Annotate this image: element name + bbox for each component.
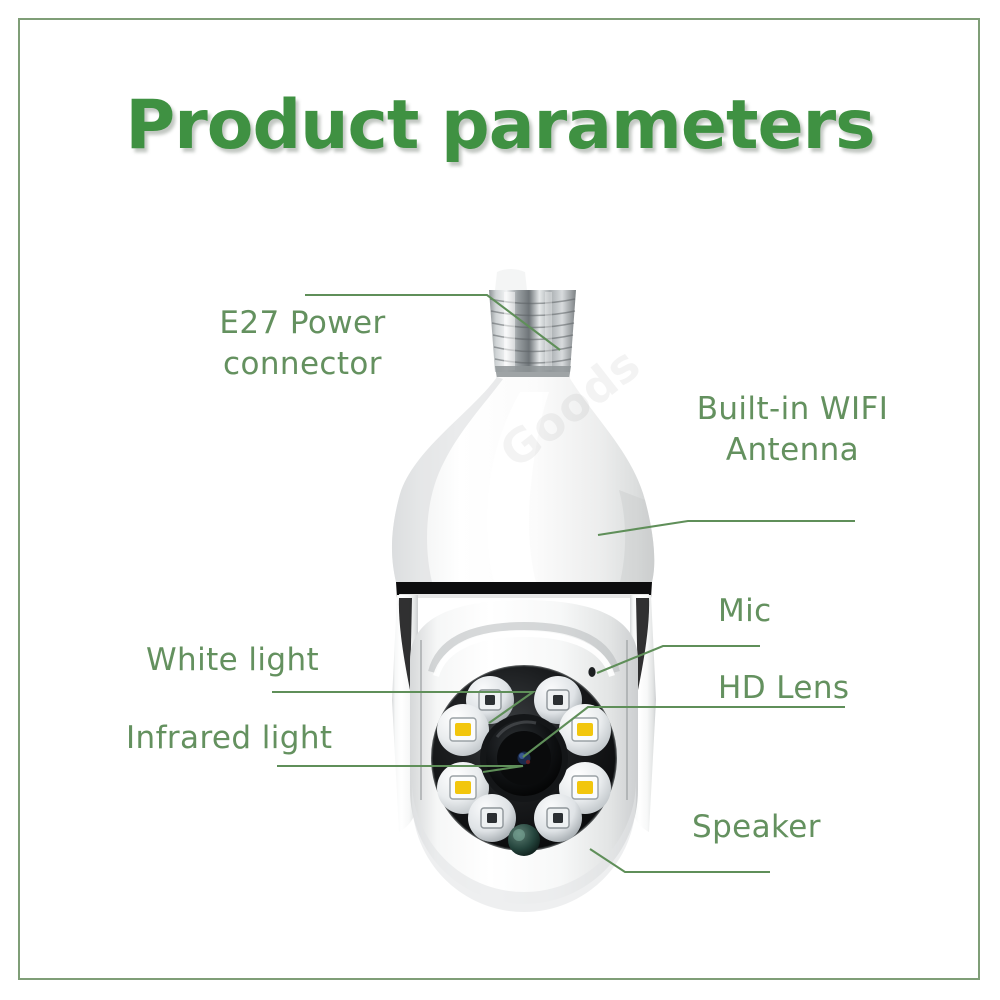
callout-label-hd-lens: HD Lens — [718, 668, 898, 709]
light-sensor-icon — [508, 824, 540, 856]
callout-label-white-light: White light — [146, 640, 361, 681]
mic-icon — [588, 667, 595, 677]
callout-label-e27-power-connector: E27 Power connector — [195, 303, 410, 385]
callout-label-speaker: Speaker — [692, 807, 872, 848]
callout-label-mic: Mic — [718, 591, 858, 632]
camera-gap-band — [396, 582, 652, 603]
camera-housing-group — [392, 595, 656, 912]
callout-label-infrared-light: Infrared light — [126, 718, 376, 759]
callout-label-built-in-wifi-antenna: Built-in WIFI Antenna — [660, 389, 925, 471]
product-illustration: Goods — [0, 0, 1000, 1000]
base-tip — [495, 269, 527, 290]
screw-base-group — [489, 269, 576, 379]
ir-led-bottom-right — [534, 794, 582, 842]
product-parameters-page: Product parameters — [0, 0, 1000, 1000]
ir-led-bottom-left — [468, 794, 516, 842]
